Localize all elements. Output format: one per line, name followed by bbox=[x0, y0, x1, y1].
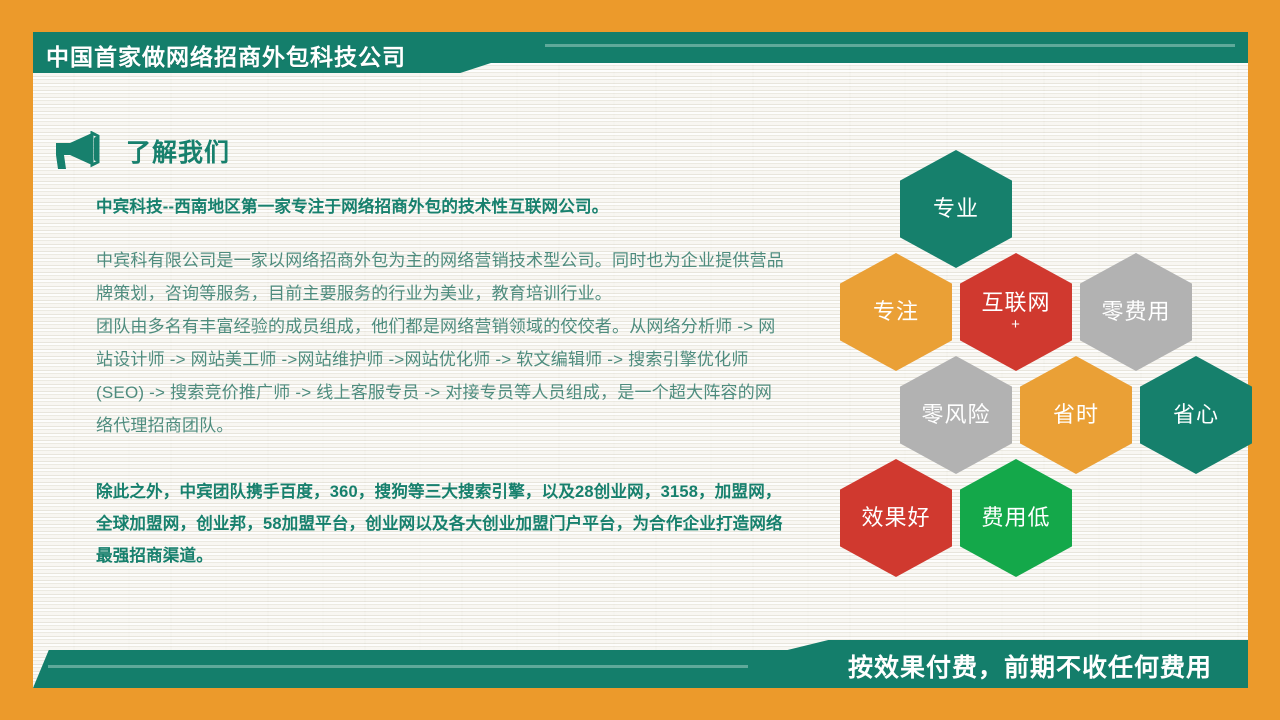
body-column: 中宾科技--西南地区第一家专注于网络招商外包的技术性互联网公司。 中宾科有限公司… bbox=[96, 192, 786, 572]
hexagon-label: 效果好 bbox=[861, 505, 930, 530]
hexagon-1: 专业 bbox=[900, 150, 1012, 268]
footer-accent-line bbox=[48, 665, 748, 668]
section-heading: 了解我们 bbox=[52, 131, 230, 171]
body-paragraph-1: 中宾科有限公司是一家以网络招商外包为主的网络营销技术型公司。同时也为企业提供营品… bbox=[96, 244, 786, 310]
hexagon-label: 费用低 bbox=[981, 505, 1050, 530]
lead-paragraph: 中宾科技--西南地区第一家专注于网络招商外包的技术性互联网公司。 bbox=[96, 192, 786, 222]
hexagon-4: 零费用 bbox=[1080, 253, 1192, 371]
hexagon-5: 零风险 bbox=[900, 356, 1012, 474]
hexagon-label: 专注 bbox=[873, 299, 919, 324]
hexagon-label: 专业 bbox=[933, 196, 979, 221]
hexagon-label: 零费用 bbox=[1101, 299, 1170, 324]
slide-root: 中国首家做网络招商外包科技公司 了解我们 中宾科技--西南地区第一家专注于网络招… bbox=[0, 0, 1280, 720]
megaphone-icon bbox=[52, 131, 104, 171]
header-accent-line bbox=[545, 44, 1235, 47]
hexagon-label: 互联网 bbox=[981, 290, 1050, 315]
hexagon-2: 专注 bbox=[840, 253, 952, 371]
hexagon-sublabel: + bbox=[1011, 316, 1021, 334]
hexagon-label: 零风险 bbox=[921, 402, 990, 427]
hexagon-6: 省时 bbox=[1020, 356, 1132, 474]
footer-title: 按效果付费，前期不收任何费用 bbox=[848, 648, 1212, 684]
hexagon-7: 省心 bbox=[1140, 356, 1252, 474]
hexagon-cluster: 专业专注互联网+零费用零风险省时省心效果好费用低 bbox=[820, 150, 1240, 550]
section-title: 了解我们 bbox=[126, 133, 230, 169]
body-paragraph-2: 团队由多名有丰富经验的成员组成，他们都是网络营销领域的佼佼者。从网络分析师 ->… bbox=[96, 310, 786, 442]
hexagon-label: 省心 bbox=[1173, 402, 1219, 427]
tail-paragraph: 除此之外，中宾团队携手百度，360，搜狗等三大搜索引擎，以及28创业网，3158… bbox=[96, 476, 786, 572]
hexagon-3: 互联网+ bbox=[960, 253, 1072, 371]
header-title: 中国首家做网络招商外包科技公司 bbox=[46, 38, 406, 72]
hexagon-label: 省时 bbox=[1053, 402, 1099, 427]
